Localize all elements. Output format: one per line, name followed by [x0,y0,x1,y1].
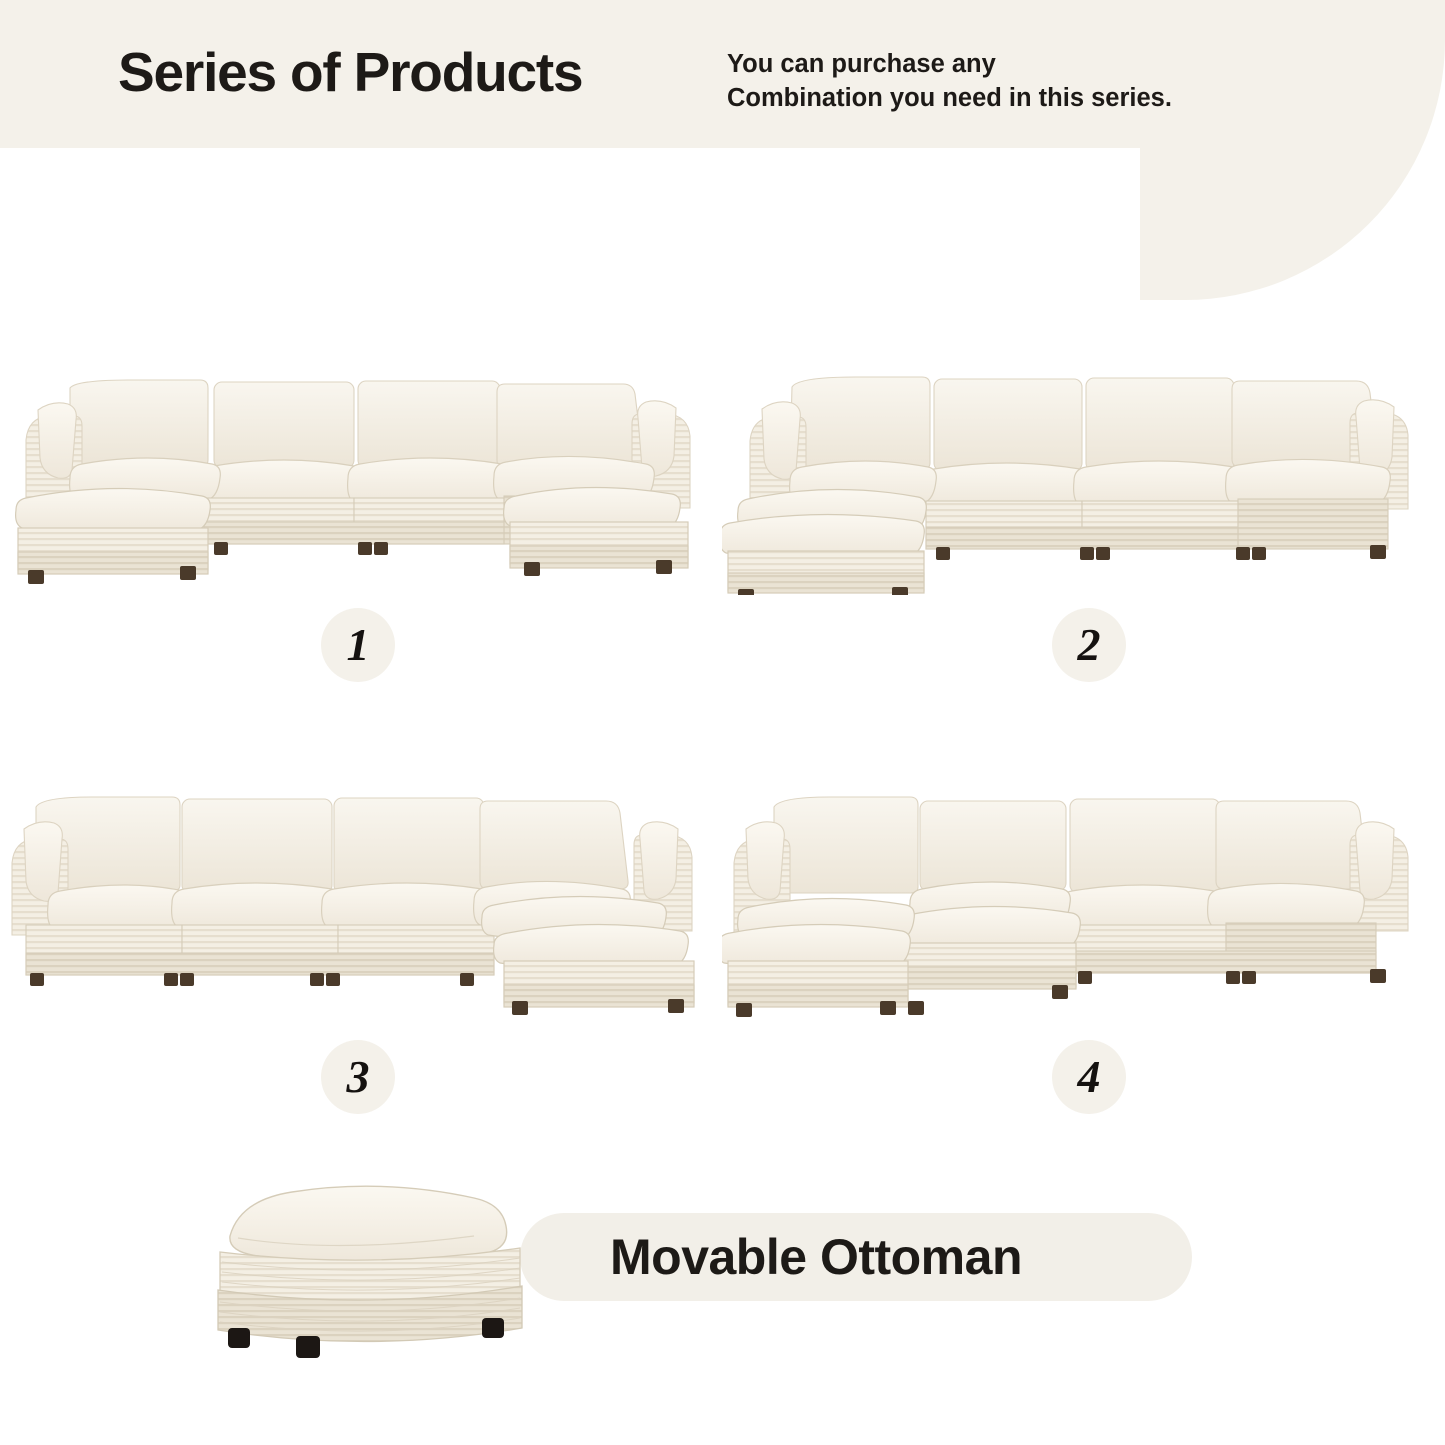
page-title: Series of Products [118,40,582,104]
product-panel-4[interactable] [722,785,1422,1025]
sofa-illustration-2 [722,365,1422,595]
subtitle-line-2: Combination you need in this series. [727,82,1172,116]
panel-badge-2: 2 [1052,608,1126,682]
badge-label: 2 [1078,622,1101,668]
sofa-illustration-4 [722,785,1422,1025]
header-subtitle: You can purchase any Combination you nee… [727,48,1172,115]
movable-ottoman-banner: Movable Ottoman [520,1213,1192,1301]
subtitle-line-1: You can purchase any [727,48,1172,82]
product-panel-2[interactable] [722,365,1422,595]
badge-label: 1 [347,622,370,668]
panel-badge-1: 1 [321,608,395,682]
product-panel-3[interactable] [8,785,708,1025]
badge-label: 4 [1078,1054,1101,1100]
panel-badge-3: 3 [321,1040,395,1114]
sofa-illustration-3 [8,785,708,1025]
product-series-infographic: Series of Products You can purchase any … [0,0,1445,1445]
sofa-illustration-1 [8,370,708,600]
ottoman-figure[interactable] [196,1178,556,1378]
badge-label: 3 [347,1054,370,1100]
panel-badge-4: 4 [1052,1040,1126,1114]
movable-ottoman-label: Movable Ottoman [610,1228,1022,1286]
ottoman-icon [196,1178,556,1378]
product-panel-1[interactable] [8,370,708,600]
